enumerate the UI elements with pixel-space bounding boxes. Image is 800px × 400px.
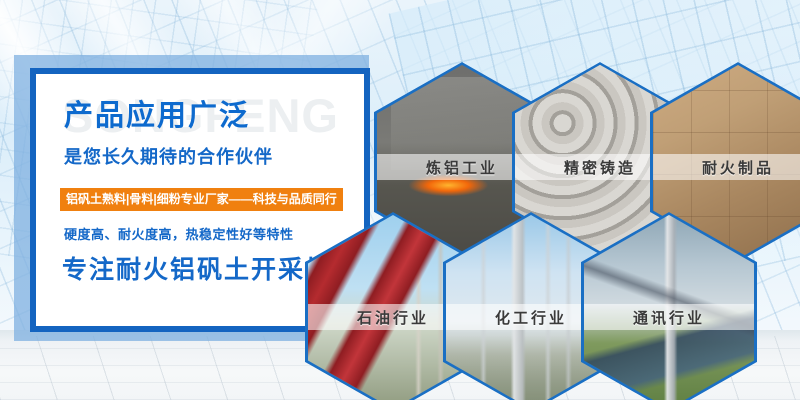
hex-label-telecom: 通讯行业 xyxy=(584,304,754,330)
promo-banner: SONGFENG 产品应用广泛 是您长久期待的合作伙伴 铝矾土熟料|骨料|细粉专… xyxy=(0,0,800,400)
hex-label-refractory: 耐火制品 xyxy=(653,154,800,180)
hexagon-grid: 炼铝工业 精密铸造 耐火制品 石油行业 xyxy=(0,0,800,400)
